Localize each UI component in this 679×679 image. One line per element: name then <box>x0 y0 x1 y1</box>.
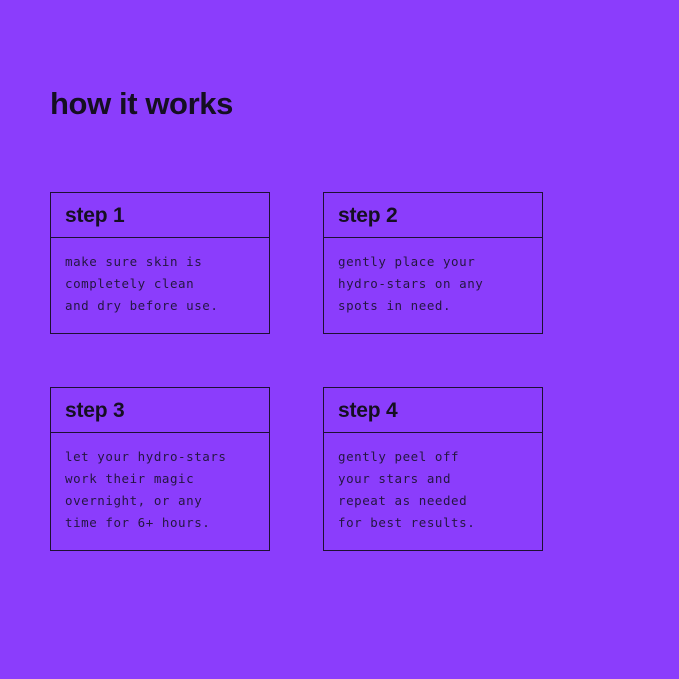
how-it-works-panel: how it works step 1 make sure skin is co… <box>0 0 679 679</box>
step-card-2-title: step 2 <box>338 204 528 227</box>
step-card-4-body: gently peel off your stars and repeat as… <box>324 433 542 550</box>
step-card-1: step 1 make sure skin is completely clea… <box>50 192 270 334</box>
page-title: how it works <box>50 87 233 121</box>
step-card-3-body: let your hydro-stars work their magic ov… <box>51 433 269 550</box>
step-card-3-title: step 3 <box>65 399 255 422</box>
step-card-2-body: gently place your hydro-stars on any spo… <box>324 238 542 333</box>
step-card-1-title: step 1 <box>65 204 255 227</box>
step-card-2-header: step 2 <box>324 193 542 238</box>
step-card-4-text: gently peel off your stars and repeat as… <box>338 446 528 534</box>
step-card-1-text: make sure skin is completely clean and d… <box>65 251 255 317</box>
step-card-4-header: step 4 <box>324 388 542 433</box>
step-card-4-title: step 4 <box>338 399 528 422</box>
step-card-4: step 4 gently peel off your stars and re… <box>323 387 543 551</box>
step-card-1-body: make sure skin is completely clean and d… <box>51 238 269 333</box>
step-card-2-text: gently place your hydro-stars on any spo… <box>338 251 528 317</box>
steps-grid: step 1 make sure skin is completely clea… <box>50 192 542 551</box>
step-card-2: step 2 gently place your hydro-stars on … <box>323 192 543 334</box>
step-card-1-header: step 1 <box>51 193 269 238</box>
step-card-3-text: let your hydro-stars work their magic ov… <box>65 446 255 534</box>
step-card-3-header: step 3 <box>51 388 269 433</box>
step-card-3: step 3 let your hydro-stars work their m… <box>50 387 270 551</box>
